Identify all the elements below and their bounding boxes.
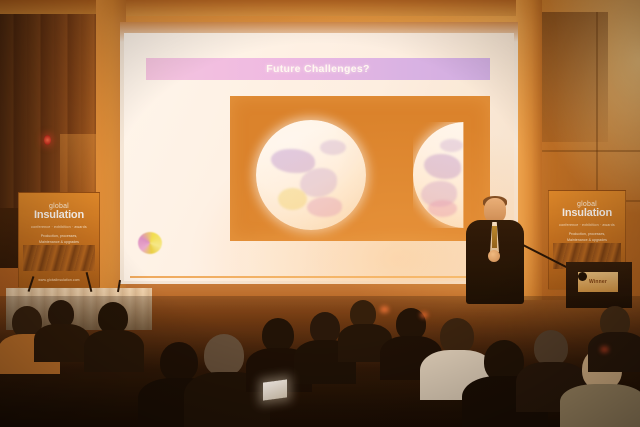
right-wall-recess [542, 12, 608, 142]
speaker [462, 198, 528, 304]
banner-left-url: www.globalinsulation.com [38, 278, 79, 282]
audience-body [560, 384, 640, 427]
audience-head [262, 318, 294, 352]
audience-head [204, 334, 244, 376]
banner-left-line2: Insulation [34, 210, 84, 222]
audience-body [34, 324, 90, 362]
speaker-hand [488, 250, 500, 262]
wood-wall-panel [0, 14, 104, 210]
audience-body [588, 332, 640, 372]
audience-head [534, 330, 568, 366]
audience-head [160, 342, 198, 382]
banner-right-line4: Production, processes, [569, 232, 606, 237]
banner-left-line3: conference · exhibition · awards [31, 225, 87, 229]
slide-corner-logo-icon [138, 232, 162, 254]
wall-seam [542, 150, 640, 152]
exit-light-icon [44, 135, 51, 145]
banner-left-line4: Production, processes, [41, 234, 78, 239]
audience-head [440, 318, 474, 354]
presentation-photo-scene: Future Challenges? global Insulation co [0, 0, 640, 427]
audience-tablet-screen [263, 379, 287, 400]
podium-sign-text: Winner [589, 279, 607, 285]
banner-left-photo [23, 245, 95, 271]
light-reflection [420, 312, 428, 318]
microphone-head-icon [578, 272, 587, 281]
audience-body [84, 330, 144, 372]
globe-full-icon [256, 120, 366, 230]
light-reflection [600, 346, 609, 353]
speaker-tie [492, 226, 497, 248]
presentation-slide: Future Challenges? [124, 33, 514, 281]
slide-bottom-rule [130, 276, 508, 278]
slide-title-bar: Future Challenges? [146, 58, 490, 80]
slide-image-panel [230, 96, 490, 241]
banner-right-line3: conference · exhibition · awards [559, 223, 615, 227]
banner-right-line2: Insulation [562, 208, 612, 220]
light-reflection [380, 306, 389, 313]
slide-title: Future Challenges? [266, 63, 369, 75]
